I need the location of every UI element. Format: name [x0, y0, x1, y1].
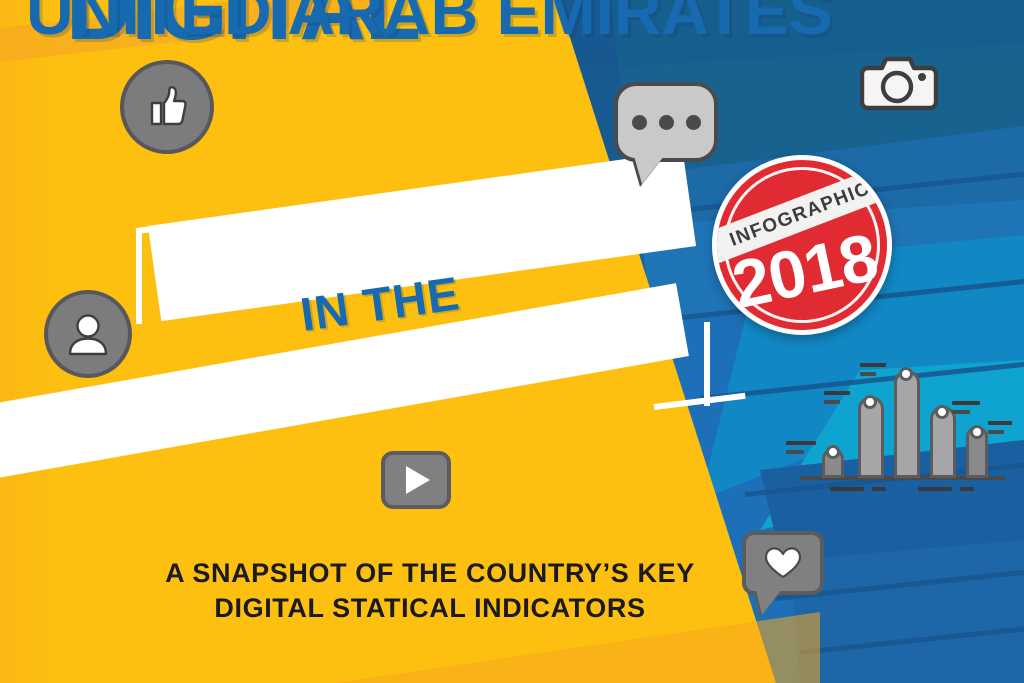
camera-icon: [860, 52, 938, 114]
chart-label-stub-3a: [860, 363, 886, 367]
chart-label-stub-1a: [786, 441, 816, 445]
chart-label-stub-2b: [824, 400, 840, 404]
chart-axis-stub-3: [918, 487, 952, 491]
subtitle-line-2: DIGITAL STATICAL INDICATORS: [120, 591, 740, 626]
chat-bubble-icon: [614, 82, 718, 162]
chart-label-stub-2a: [824, 391, 850, 395]
chart-marker-1: [826, 445, 840, 459]
chart-axis-stub-4: [960, 487, 974, 491]
heart-bubble-tail: [756, 589, 782, 615]
user-avatar-glyph: [63, 309, 113, 359]
title-line-country: UNITED ARAB EMIRATES: [26, 0, 833, 44]
chart-marker-5: [970, 425, 984, 439]
play-triangle-glyph: [406, 466, 430, 494]
heart-bubble-icon: [742, 531, 824, 595]
chart-label-stub-5a: [988, 421, 1012, 425]
chart-axis-stub-1: [830, 487, 864, 491]
chart-bar-3: [894, 370, 920, 478]
camera-glyph: [860, 52, 938, 114]
play-button-icon: [381, 451, 451, 509]
chart-axis-stub-2: [872, 487, 886, 491]
chat-dot-1: [632, 115, 647, 130]
chart-label-stub-5b: [988, 430, 1004, 434]
chart-label-stub-3b: [860, 372, 876, 376]
thumbs-up-icon: [120, 60, 214, 154]
chart-label-stub-4a: [952, 401, 980, 405]
heart-glyph: [764, 546, 802, 580]
chart-marker-2: [863, 395, 877, 409]
decorative-bar-chart: [800, 355, 1015, 500]
user-avatar-icon: [44, 290, 132, 378]
thumbs-up-glyph: [141, 81, 193, 133]
chat-dot-3: [686, 115, 701, 130]
subtitle-block: A SNAPSHOT OF THE COUNTRY’S KEY DIGITAL …: [120, 556, 740, 625]
infographic-cover: DIGITAL IN THE UNITED ARAB EMIRATES A SN…: [0, 0, 1024, 683]
chart-label-stub-1b: [786, 450, 804, 454]
chat-bubble-tail: [634, 156, 664, 184]
chart-marker-3: [899, 367, 913, 381]
chat-dot-2: [659, 115, 674, 130]
subtitle-line-1: A SNAPSHOT OF THE COUNTRY’S KEY: [120, 556, 740, 591]
chart-label-stub-4b: [952, 410, 970, 414]
chart-marker-4: [935, 405, 949, 419]
